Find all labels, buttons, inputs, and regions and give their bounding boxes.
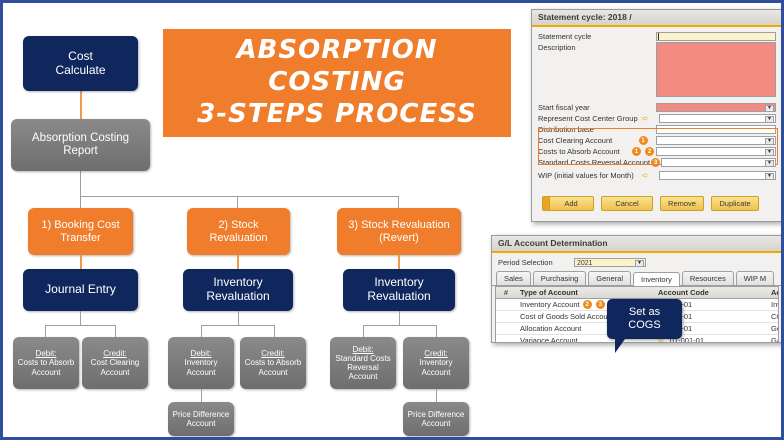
leaf1-credit-body: Cost Clearing Account xyxy=(82,358,148,376)
box-inventory-revaluation-3: Inventory Revaluation xyxy=(343,269,455,311)
box-cost-calculate-line1: Cost xyxy=(51,50,109,64)
field-row-wip[interactable]: WIP (initial values for Month) ➪ ▼ xyxy=(532,170,782,181)
tab-sales[interactable]: Sales xyxy=(496,271,531,285)
table-header-row: # Type of Account Account Code Account N… xyxy=(496,287,778,299)
box-report-line1: Absorption Costing xyxy=(28,132,133,145)
remove-button[interactable]: Remove xyxy=(660,196,704,211)
leaf-credit-inventory-3: Credit: Inventory Account xyxy=(403,337,469,389)
cancel-button-label: Cancel xyxy=(615,199,638,208)
statement-cycle-window[interactable]: Statement cycle: 2018 / Statement cycle … xyxy=(531,9,783,222)
label-start-fiscal-year: Start fiscal year xyxy=(538,103,656,112)
field-row-description[interactable]: Description xyxy=(532,42,782,99)
connector-step3-doc xyxy=(398,255,400,269)
label-description: Description xyxy=(538,42,656,52)
connector-doc1-bus-r xyxy=(115,325,116,337)
add-button[interactable]: Add xyxy=(542,196,594,211)
tab-resources[interactable]: Resources xyxy=(682,271,734,285)
gl-window-title: G/L Account Determination xyxy=(492,236,782,253)
select-represent-cost-center-group[interactable]: ▼ xyxy=(659,114,776,123)
input-description[interactable] xyxy=(656,42,776,97)
col-account-name: Account Name xyxy=(767,288,778,297)
col-index: # xyxy=(496,288,516,297)
step1-line2: Transfer xyxy=(37,232,123,245)
leaf2-debit-body: Inventory Account xyxy=(168,358,234,376)
connector-calc-to-report xyxy=(80,91,82,119)
box-journal-entry: Journal Entry xyxy=(23,269,138,311)
connector-report-down xyxy=(80,171,81,197)
leaf1-debit-head: Debit: xyxy=(13,349,79,358)
banner-line-1: Absorption Costing xyxy=(163,35,511,98)
badge-step: 2 xyxy=(583,300,592,309)
connector-bus-drop-1 xyxy=(80,196,81,208)
callout-line-2: COGS xyxy=(628,319,660,332)
chevron-down-icon[interactable]: ▼ xyxy=(635,260,644,267)
connector-doc2-bus-r xyxy=(274,325,275,337)
leaf-price-difference-3: Price Difference Account xyxy=(403,402,469,436)
connector-leaf3-extra xyxy=(436,389,437,402)
statement-window-buttons[interactable]: Add Cancel Remove Duplicate xyxy=(542,196,759,211)
input-statement-cycle[interactable] xyxy=(656,32,776,41)
doc3-line2: Revaluation xyxy=(363,290,434,304)
chevron-down-icon[interactable]: ▼ xyxy=(765,116,774,123)
period-value: 2021 xyxy=(577,260,593,267)
step1-line1: 1) Booking Cost xyxy=(37,219,123,232)
add-button-accent xyxy=(543,197,550,210)
step2-line1: 2) Stock xyxy=(205,219,271,232)
leaf2-debit-head: Debit: xyxy=(168,349,234,358)
leaf-price-difference-2: Price Difference Account xyxy=(168,402,234,436)
cell-name: Goods Received N xyxy=(767,324,778,333)
leaf1-debit-body: Costs to Absorb Account xyxy=(13,358,79,376)
leaf1-credit-head: Credit: xyxy=(82,349,148,358)
chevron-down-icon[interactable]: ▼ xyxy=(765,105,774,112)
select-costs-to-absorb-account[interactable]: ▼ xyxy=(656,147,776,156)
step3-line1: 3) Stock Revaluation xyxy=(344,219,454,232)
field-row-period-selection[interactable]: Period Selection 2021 ▼ xyxy=(492,257,782,268)
leaf-debit-inventory-2: Debit: Inventory Account xyxy=(168,337,234,389)
connector-doc1-down xyxy=(80,311,81,325)
leaf2-extra-label: Price Difference Account xyxy=(168,410,234,428)
connector-doc2-bus xyxy=(201,325,275,326)
leaf3-credit-head: Credit: xyxy=(403,349,469,358)
leaf-debit-standard-costs-reversal: Debit: Standard Costs Reversal Account xyxy=(330,337,396,389)
leaf3-debit-body: Standard Costs Reversal Account xyxy=(330,354,396,382)
box-cost-calculate: Cost Calculate xyxy=(23,36,138,91)
link-arrow-icon[interactable]: ➪ xyxy=(642,114,656,123)
tab-general[interactable]: General xyxy=(588,271,631,285)
text-caret xyxy=(658,33,659,40)
connector-bus xyxy=(80,196,399,197)
label-statement-cycle: Statement cycle xyxy=(538,32,656,41)
step2-line2: Revaluation xyxy=(205,232,271,245)
connector-bus-drop-3 xyxy=(398,196,399,208)
chevron-down-icon[interactable]: ▼ xyxy=(765,149,774,156)
leaf-credit-cost-clearing: Credit: Cost Clearing Account xyxy=(82,337,148,389)
remove-button-label: Remove xyxy=(668,199,696,208)
connector-doc3-bus xyxy=(363,325,437,326)
leaf3-credit-body: Inventory Account xyxy=(403,358,469,376)
leaf3-extra-label: Price Difference Account xyxy=(403,410,469,428)
label-wip: WIP (initial values for Month) xyxy=(538,171,642,180)
cell-type-label: Inventory Account xyxy=(520,300,580,309)
connector-doc3-down xyxy=(399,311,400,325)
connector-doc2-down xyxy=(238,311,239,325)
field-row-start-fiscal-year[interactable]: Start fiscal year ▼ xyxy=(532,102,782,113)
leaf-debit-costs-to-absorb: Debit: Costs to Absorb Account xyxy=(13,337,79,389)
box-absorption-costing-report: Absorption Costing Report xyxy=(11,119,150,171)
select-cost-clearing-account[interactable]: ▼ xyxy=(656,136,776,145)
col-type: Type of Account xyxy=(516,288,654,297)
callout-set-as-cogs: Set as COGS xyxy=(607,299,682,339)
tab-purchasing[interactable]: Purchasing xyxy=(533,271,587,285)
badge-step: 3 xyxy=(596,300,605,309)
connector-step2-doc xyxy=(237,255,239,269)
col-account-code: Account Code xyxy=(654,288,767,297)
select-standard-costs-reversal-account[interactable]: ▼ xyxy=(661,158,776,167)
chevron-down-icon[interactable]: ▼ xyxy=(765,160,774,167)
leaf-credit-costs-to-absorb-2: Credit: Costs to Absorb Account xyxy=(240,337,306,389)
field-row-statement-cycle[interactable]: Statement cycle xyxy=(532,31,782,42)
label-represent-cost-center-group: Represent Cost Center Group xyxy=(538,114,642,123)
tab-wip[interactable]: WIP M xyxy=(736,271,774,285)
doc3-line1: Inventory xyxy=(363,276,434,290)
chevron-down-icon[interactable]: ▼ xyxy=(765,138,774,145)
duplicate-button-label: Duplicate xyxy=(719,199,750,208)
chevron-down-icon[interactable]: ▼ xyxy=(765,173,774,180)
statement-window-title: Statement cycle: 2018 / xyxy=(532,10,782,27)
connector-doc3-bus-r xyxy=(436,325,437,337)
field-row-represent-cost-center-group[interactable]: Represent Cost Center Group ➪ ▼ xyxy=(532,113,782,124)
doc2-line2: Revaluation xyxy=(202,290,273,304)
callout-line-1: Set as xyxy=(628,306,660,319)
box-inventory-revaluation-2: Inventory Revaluation xyxy=(183,269,293,311)
label-period-selection: Period Selection xyxy=(498,258,574,267)
select-period[interactable]: 2021 ▼ xyxy=(574,258,646,267)
connector-doc1-bus xyxy=(45,325,116,326)
connector-bus-drop-2 xyxy=(237,196,238,208)
title-banner: Absorption Costing 3-Steps Process xyxy=(163,29,511,137)
box-step-1-booking-cost-transfer: 1) Booking Cost Transfer xyxy=(28,208,133,255)
box-cost-calculate-line2: Calculate xyxy=(51,64,109,78)
box-report-line2: Report xyxy=(28,145,133,158)
slide-canvas: Absorption Costing 3-Steps Process Cost … xyxy=(0,0,784,440)
banner-line-2: 3-Steps Process xyxy=(197,99,476,131)
leaf2-credit-head: Credit: xyxy=(240,349,306,358)
cell-name: Inventory - Finish xyxy=(767,300,778,309)
select-start-fiscal-year[interactable]: ▼ xyxy=(656,103,776,112)
leaf3-debit-head: Debit: xyxy=(330,345,396,354)
cell-name: Gain/Loss Price Va xyxy=(767,336,778,343)
connector-doc2-bus-l xyxy=(201,325,202,337)
leaf2-credit-body: Costs to Absorb Account xyxy=(240,358,306,376)
add-button-label: Add xyxy=(564,199,577,208)
connector-step1-doc xyxy=(80,255,82,269)
cancel-button[interactable]: Cancel xyxy=(601,196,653,211)
tab-inventory[interactable]: Inventory xyxy=(633,272,680,286)
box-step-3-stock-revaluation-revert: 3) Stock Revaluation (Revert) xyxy=(337,208,461,255)
connector-doc3-bus-l xyxy=(363,325,364,337)
gl-tabstrip[interactable]: Sales Purchasing General Inventory Resou… xyxy=(492,271,782,286)
link-arrow-icon[interactable]: ➪ xyxy=(642,171,656,180)
step3-line2: (Revert) xyxy=(344,232,454,245)
duplicate-button[interactable]: Duplicate xyxy=(711,196,759,211)
connector-doc1-bus-l xyxy=(45,325,46,337)
doc1-label: Journal Entry xyxy=(41,283,120,297)
cell-name: COGS - Domestic xyxy=(767,312,778,321)
select-wip[interactable]: ▼ xyxy=(659,171,776,180)
box-step-2-stock-revaluation: 2) Stock Revaluation xyxy=(187,208,290,255)
callout-tail xyxy=(615,339,625,353)
connector-leaf2-extra xyxy=(201,389,202,402)
doc2-line1: Inventory xyxy=(202,276,273,290)
